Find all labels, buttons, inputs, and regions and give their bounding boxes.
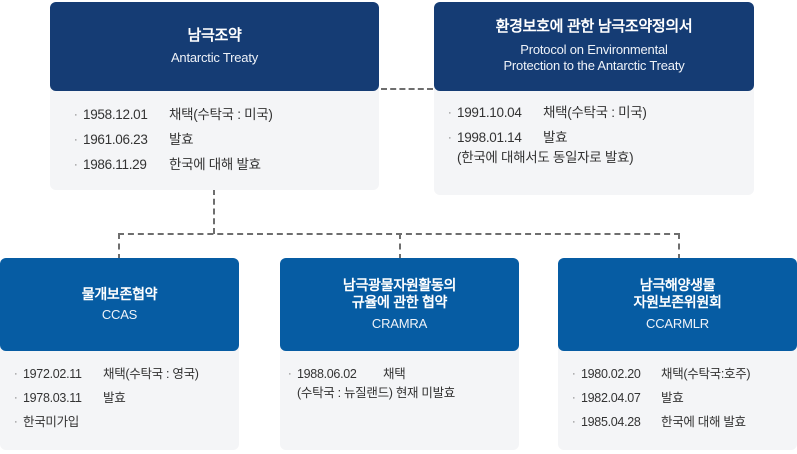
- fact-text: 1985.04.28한국에 대해 발효: [581, 413, 797, 432]
- diagram-canvas: 남극조약 Antarctic Treaty · 1958.12.01채택(수탁국…: [0, 0, 797, 454]
- fact-date: 1961.06.23: [83, 130, 169, 150]
- fact-date: 1985.04.28: [581, 413, 661, 432]
- card-title-en: CCARMLR: [646, 316, 709, 332]
- fact-date: 1982.04.07: [581, 389, 661, 408]
- card-body-antarctic-treaty: · 1958.12.01채택(수탁국 : 미국) · 1961.06.23발효 …: [50, 85, 379, 190]
- list-item: · 1988.06.02채택 (수탁국 : 뉴질랜드) 현재 미발효: [288, 365, 519, 403]
- list-item: · 1958.12.01채택(수탁국 : 미국): [74, 105, 379, 125]
- fact-list: · 1972.02.11채택(수탁국 : 영국) · 1978.03.11발효 …: [14, 365, 239, 432]
- card-body-environmental-protocol: · 1991.10.04채택(수탁국 : 미국) · 1998.01.14발효 …: [434, 85, 754, 195]
- bullet-icon: ·: [14, 389, 23, 408]
- fact-text: 1982.04.07발효: [581, 389, 797, 408]
- list-item: · 한국미가입: [14, 413, 239, 432]
- fact-desc: 발효: [103, 391, 125, 405]
- card-header-cramra: 남극광물자원활동의 규율에 관한 협약 CRAMRA: [280, 258, 519, 351]
- fact-list: · 1958.12.01채택(수탁국 : 미국) · 1961.06.23발효 …: [74, 105, 379, 175]
- list-item: · 1980.02.20채택(수탁국:호주): [572, 365, 797, 384]
- fact-desc: 한국미가입: [23, 415, 79, 429]
- fact-date: 1998.01.14: [457, 128, 543, 148]
- list-item: · 1991.10.04채택(수탁국 : 미국): [448, 103, 754, 123]
- fact-list: · 1980.02.20채택(수탁국:호주) · 1982.04.07발효 · …: [572, 365, 797, 432]
- bullet-icon: ·: [572, 365, 581, 384]
- fact-list: · 1988.06.02채택 (수탁국 : 뉴질랜드) 현재 미발효: [288, 365, 519, 403]
- list-item: · 1978.03.11발효: [14, 389, 239, 408]
- fact-date: 1978.03.11: [23, 389, 103, 408]
- connector-treaty-to-protocol: [381, 88, 433, 90]
- list-item: · 1986.11.29한국에 대해 발효: [74, 155, 379, 175]
- bullet-icon: ·: [448, 128, 457, 148]
- list-item: · 1972.02.11채택(수탁국 : 영국): [14, 365, 239, 384]
- bullet-icon: ·: [288, 365, 297, 384]
- card-body-ccamlr: · 1980.02.20채택(수탁국:호주) · 1982.04.07발효 · …: [558, 345, 797, 450]
- fact-date: 1991.10.04: [457, 103, 543, 123]
- list-item: · 1961.06.23발효: [74, 130, 379, 150]
- fact-list: · 1991.10.04채택(수탁국 : 미국) · 1998.01.14발효 …: [448, 103, 754, 168]
- card-title-ko: 남극조약: [187, 27, 241, 46]
- list-item: · 1985.04.28한국에 대해 발효: [572, 413, 797, 432]
- fact-desc: 채택(수탁국:호주): [661, 367, 750, 381]
- card-ccas[interactable]: 물개보존협약 CCAS · 1972.02.11채택(수탁국 : 영국) · 1…: [0, 258, 239, 351]
- fact-desc: 채택(수탁국 : 미국): [543, 105, 647, 120]
- connector-drop-ccas: [118, 233, 120, 260]
- fact-date: 1980.02.20: [581, 365, 661, 384]
- card-title-en: CRAMRA: [372, 316, 427, 332]
- card-title-en: Protocol on Environmental Protection to …: [503, 42, 684, 75]
- fact-text: 1988.06.02채택 (수탁국 : 뉴질랜드) 현재 미발효: [297, 365, 519, 403]
- card-title-en: Antarctic Treaty: [171, 50, 258, 66]
- card-antarctic-treaty[interactable]: 남극조약 Antarctic Treaty · 1958.12.01채택(수탁국…: [50, 2, 379, 91]
- card-header-environmental-protocol: 환경보호에 관한 남극조약정의서 Protocol on Environment…: [434, 2, 754, 91]
- fact-date: 1986.11.29: [83, 155, 169, 175]
- card-title-ko: 환경보호에 관한 남극조약정의서: [496, 18, 693, 37]
- fact-text: 1991.10.04채택(수탁국 : 미국): [457, 103, 754, 123]
- connector-drop-ccamlr: [678, 233, 680, 260]
- fact-desc: 한국에 대해 발효: [661, 415, 746, 429]
- fact-text: 1998.01.14발효 (한국에 대해서도 동일자로 발효): [457, 128, 754, 168]
- fact-desc: 한국에 대해 발효: [169, 157, 261, 172]
- bullet-icon: ·: [448, 103, 457, 123]
- bullet-icon: ·: [74, 155, 83, 175]
- fact-text: 1986.11.29한국에 대해 발효: [83, 155, 379, 175]
- card-title-ko: 남극해양생물 자원보존위원회: [633, 277, 721, 312]
- card-body-ccas: · 1972.02.11채택(수탁국 : 영국) · 1978.03.11발효 …: [0, 345, 239, 450]
- bullet-icon: ·: [14, 365, 23, 384]
- fact-text: 1958.12.01채택(수탁국 : 미국): [83, 105, 379, 125]
- connector-trunk-vertical: [213, 189, 215, 234]
- fact-desc: 발효: [169, 132, 193, 147]
- card-header-ccas: 물개보존협약 CCAS: [0, 258, 239, 351]
- fact-date: 1972.02.11: [23, 365, 103, 384]
- list-item: · 1982.04.07발효: [572, 389, 797, 408]
- fact-text: 1978.03.11발효: [23, 389, 239, 408]
- fact-text: 한국미가입: [23, 413, 239, 432]
- card-title-ko: 남극광물자원활동의 규율에 관한 협약: [343, 277, 456, 312]
- card-header-antarctic-treaty: 남극조약 Antarctic Treaty: [50, 2, 379, 91]
- bullet-icon: ·: [572, 389, 581, 408]
- fact-desc: 발효: [661, 391, 683, 405]
- fact-desc: 채택(수탁국 : 미국): [169, 107, 273, 122]
- fact-date: 1988.06.02: [297, 365, 383, 384]
- bullet-icon: ·: [14, 413, 23, 432]
- card-environmental-protocol[interactable]: 환경보호에 관한 남극조약정의서 Protocol on Environment…: [434, 2, 754, 91]
- fact-text: 1972.02.11채택(수탁국 : 영국): [23, 365, 239, 384]
- fact-date: 1958.12.01: [83, 105, 169, 125]
- fact-desc: 채택(수탁국 : 영국): [103, 367, 199, 381]
- fact-text: 1961.06.23발효: [83, 130, 379, 150]
- card-title-en: CCAS: [102, 307, 137, 323]
- list-item: · 1998.01.14발효 (한국에 대해서도 동일자로 발효): [448, 128, 754, 168]
- card-body-cramra: · 1988.06.02채택 (수탁국 : 뉴질랜드) 현재 미발효: [280, 345, 519, 450]
- card-ccamlr[interactable]: 남극해양생물 자원보존위원회 CCARMLR · 1980.02.20채택(수탁…: [558, 258, 797, 351]
- card-cramra[interactable]: 남극광물자원활동의 규율에 관한 협약 CRAMRA · 1988.06.02채…: [280, 258, 519, 351]
- fact-text: 1980.02.20채택(수탁국:호주): [581, 365, 797, 384]
- connector-drop-cramra: [399, 233, 401, 260]
- card-title-ko: 물개보존협약: [82, 286, 157, 304]
- bullet-icon: ·: [74, 105, 83, 125]
- bullet-icon: ·: [572, 413, 581, 432]
- card-header-ccamlr: 남극해양생물 자원보존위원회 CCARMLR: [558, 258, 797, 351]
- bullet-icon: ·: [74, 130, 83, 150]
